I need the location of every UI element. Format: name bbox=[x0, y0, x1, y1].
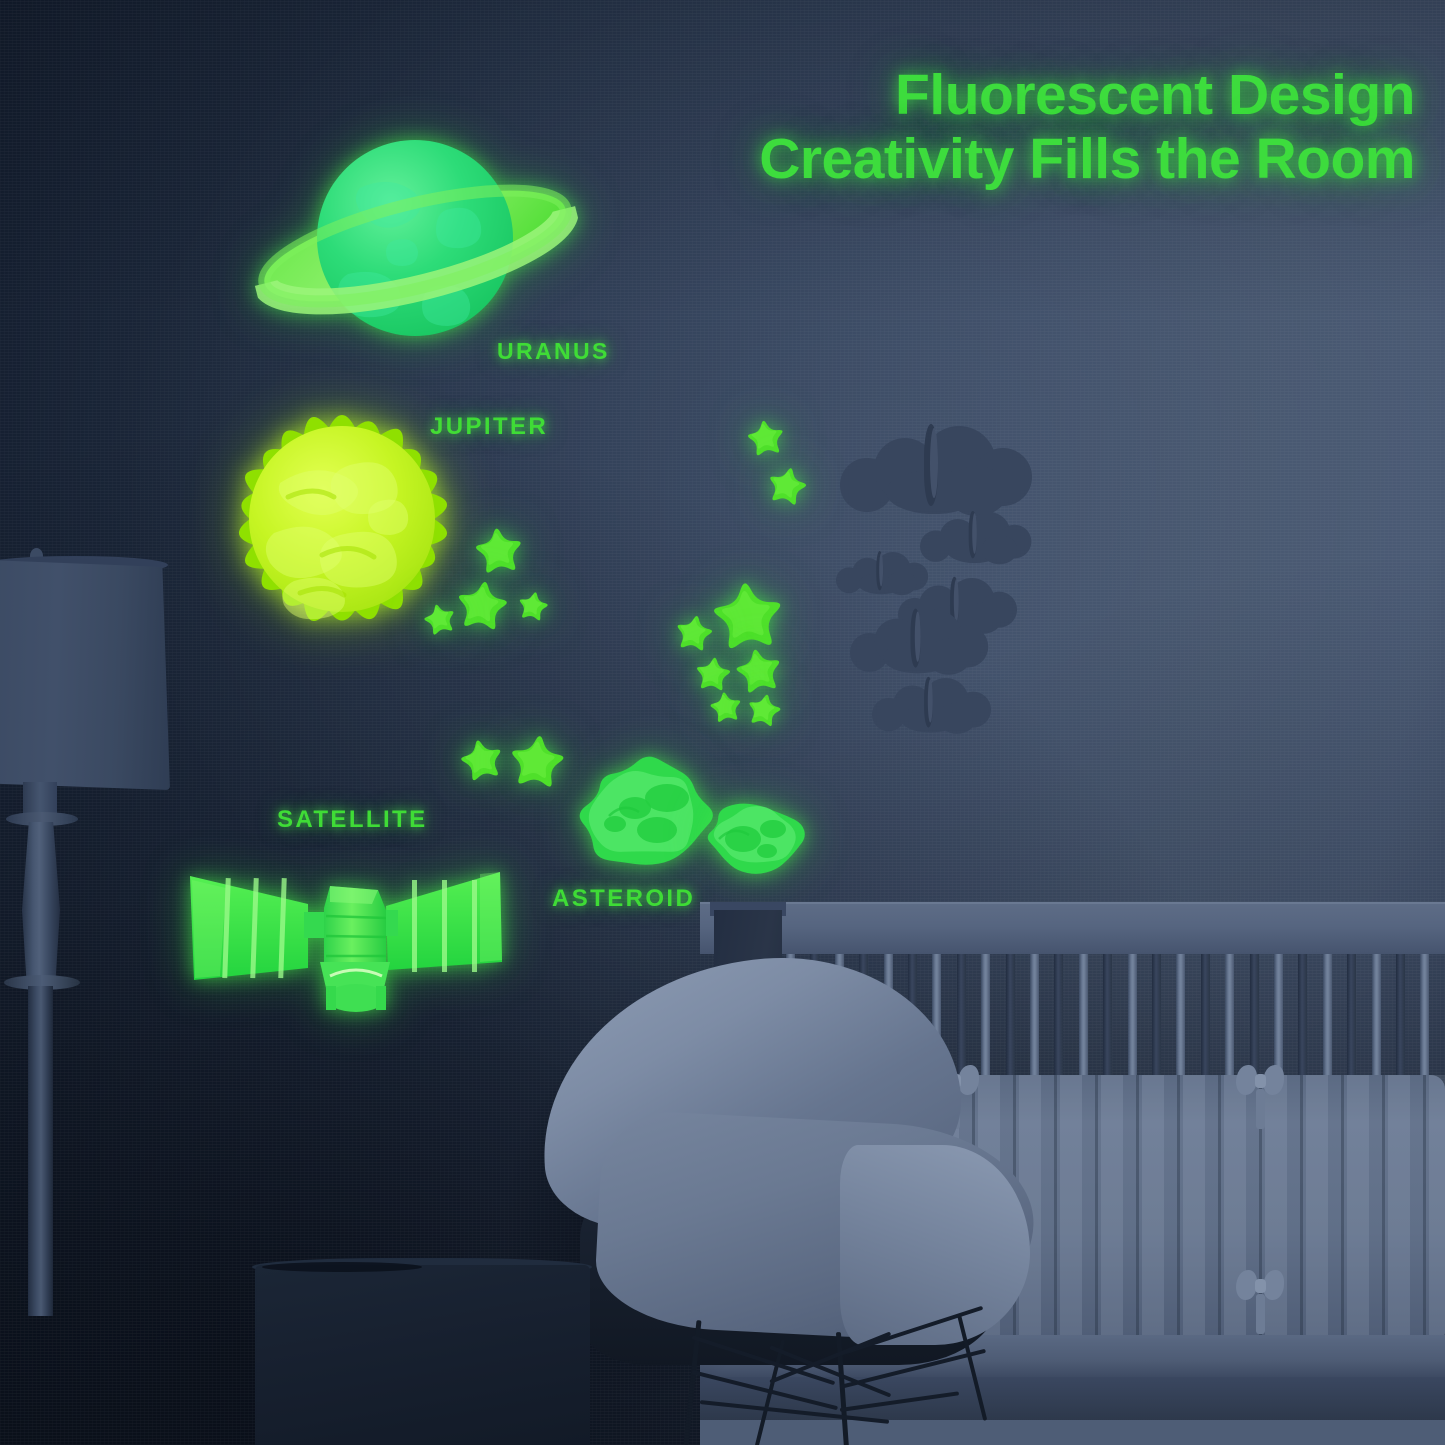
cloud-highlight bbox=[930, 428, 938, 498]
cloud-highlight bbox=[954, 579, 959, 622]
bow-part bbox=[1263, 1270, 1284, 1300]
bow-part bbox=[1236, 1065, 1257, 1095]
headline: Fluorescent Design Creativity Fills the … bbox=[715, 63, 1415, 192]
bumper-highlight bbox=[1183, 1075, 1205, 1337]
bow-part bbox=[1256, 1089, 1265, 1129]
cloud-puff bbox=[938, 703, 976, 734]
lamp-stem bbox=[22, 822, 60, 982]
bumper-highlight bbox=[1142, 1075, 1164, 1337]
lamp-shade bbox=[0, 560, 170, 790]
bumper-bow bbox=[1236, 1065, 1284, 1099]
bumper-fold bbox=[1423, 1075, 1426, 1337]
bumper-fold bbox=[1095, 1075, 1098, 1337]
asteroid-small bbox=[700, 795, 814, 884]
bow-part bbox=[1236, 1270, 1257, 1300]
bumper-highlight bbox=[1060, 1075, 1082, 1337]
uranus-planet bbox=[250, 128, 580, 363]
chair-wire bbox=[840, 1391, 959, 1412]
satellite-label: SATELLITE bbox=[277, 806, 427, 834]
star-decal bbox=[496, 722, 578, 809]
bumper-highlight bbox=[1101, 1075, 1123, 1337]
cloud-highlight bbox=[915, 611, 921, 661]
eames-chair bbox=[540, 960, 1060, 1445]
bumper-bow bbox=[1236, 1270, 1284, 1304]
cloud-puff bbox=[926, 639, 971, 675]
basket-inner-shadow bbox=[262, 1262, 422, 1272]
bumper-fold bbox=[1177, 1075, 1180, 1337]
asteroid-large bbox=[575, 752, 719, 881]
basket-body bbox=[255, 1265, 590, 1445]
chair-seat-edge bbox=[840, 1145, 1030, 1345]
product-scene: Fluorescent Design Creativity Fills the … bbox=[0, 0, 1445, 1445]
headline-line-1: Fluorescent Design bbox=[895, 63, 1415, 127]
bow-part bbox=[1263, 1065, 1284, 1095]
star-decal bbox=[412, 592, 468, 653]
bumper-highlight bbox=[1429, 1075, 1445, 1337]
bumper-highlight bbox=[1347, 1075, 1369, 1337]
cloud-puff bbox=[981, 535, 1017, 564]
star-decal bbox=[506, 580, 560, 639]
cloud-puff bbox=[887, 571, 917, 595]
bow-part bbox=[1256, 1294, 1265, 1334]
bumper-highlight bbox=[1388, 1075, 1410, 1337]
cloud-highlight bbox=[879, 553, 883, 587]
lamp-pole bbox=[28, 986, 53, 1316]
bumper-fold bbox=[1341, 1075, 1344, 1337]
headline-line-2: Creativity Fills the Room bbox=[715, 127, 1415, 191]
bumper-fold bbox=[1300, 1075, 1303, 1337]
bumper-highlight bbox=[1306, 1075, 1328, 1337]
bumper-fold bbox=[1136, 1075, 1139, 1337]
star-decal bbox=[755, 455, 819, 524]
cloud-puff bbox=[946, 466, 1008, 516]
bumper-fold bbox=[1218, 1075, 1221, 1337]
crib-top-rail bbox=[700, 904, 1445, 954]
asteroid-label: ASTEROID bbox=[552, 885, 695, 913]
chair-wire bbox=[700, 1400, 889, 1424]
satellite-decal bbox=[180, 858, 510, 1023]
bow-part bbox=[1255, 1074, 1266, 1088]
bow-part bbox=[1255, 1279, 1266, 1293]
bumper-fold bbox=[1382, 1075, 1385, 1337]
cloud-highlight bbox=[972, 513, 977, 554]
star-decal bbox=[735, 682, 793, 745]
cloud-highlight bbox=[928, 679, 933, 722]
